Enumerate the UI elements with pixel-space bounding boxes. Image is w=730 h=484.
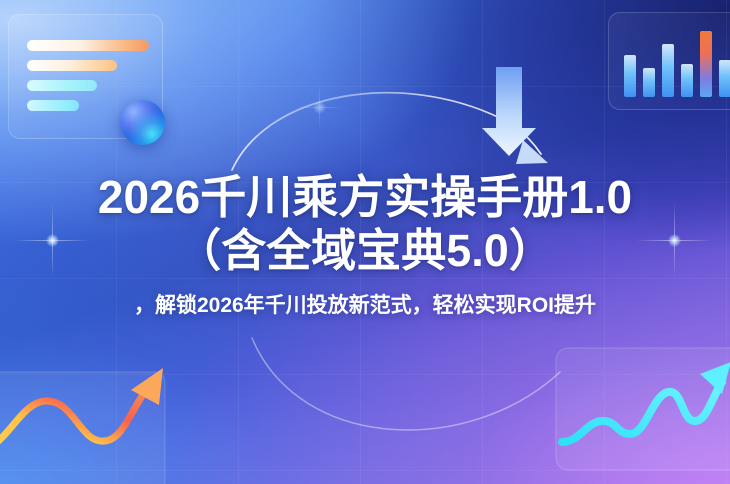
glow-star-icon (296, 84, 342, 130)
bar-chart-bar (662, 44, 674, 97)
curved-arrow-icon (232, 93, 548, 170)
gradient-sphere (120, 100, 165, 145)
banner-title-line-1: 2026千川乘方实操手册1.0 (0, 170, 730, 224)
growth-panel-left (0, 368, 165, 484)
glow-star-vertical-ray (319, 84, 320, 130)
growth-arrow-cyan-icon (562, 382, 722, 442)
banner-subtitle: ，解锁2026年千川投放新范式，轻松实现ROI提升 (0, 292, 730, 320)
growth-panel-right (556, 348, 730, 470)
promo-banner: 2026千川乘方实操手册1.0 （含全域宝典5.0） ，解锁2026年千川投放新… (0, 0, 730, 484)
bar-chart (624, 24, 730, 97)
bar-chart-bar (643, 68, 655, 97)
bar-chart-bar (700, 31, 712, 97)
banner-title-line-2: （含全域宝典5.0） (0, 224, 730, 278)
progress-bar-4 (27, 100, 79, 111)
down-arrow-icon (482, 67, 536, 156)
bar-chart-bar (681, 64, 693, 97)
bar-chart-bar (719, 60, 730, 97)
glow-star-horizontal-ray (296, 107, 342, 108)
progress-bar-3 (27, 80, 97, 91)
progress-bar-1 (27, 40, 149, 51)
glow-star-core (313, 101, 326, 114)
text-block: 2026千川乘方实操手册1.0 （含全域宝典5.0） ，解锁2026年千川投放新… (0, 170, 730, 320)
progress-bar-2 (27, 60, 117, 71)
bar-chart-bar (624, 55, 636, 97)
growth-arrow-orange-icon (0, 390, 146, 452)
lower-arc-line (252, 338, 560, 430)
